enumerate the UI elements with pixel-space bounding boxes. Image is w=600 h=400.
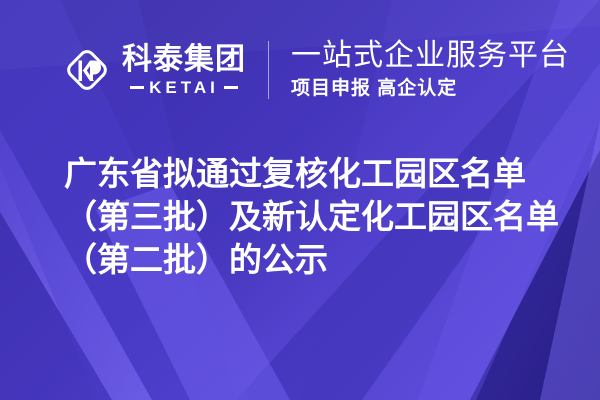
brand-logo[interactable]: 科泰集团 KETAI: [62, 44, 246, 96]
page-title: 广东省拟通过复核化工园区名单（第三批）及新认定化工园区名单（第二批）的公示: [64, 152, 572, 281]
brand-wordmark: 科泰集团 KETAI: [122, 44, 246, 96]
tagline-primary: 一站式企业服务平台: [291, 39, 570, 73]
brand-name-cn: 科泰集团: [122, 44, 246, 76]
brand-tagline: 一站式企业服务平台 项目申报 高企认定: [291, 39, 570, 101]
header-divider: [268, 41, 269, 99]
brand-name-en: KETAI: [149, 79, 219, 96]
announcement-banner: 科泰集团 KETAI 一站式企业服务平台 项目申报 高企认定 广东省拟通过复核化…: [0, 0, 600, 400]
tagline-secondary: 项目申报 高企认定: [291, 77, 570, 101]
banner-header: 科泰集团 KETAI 一站式企业服务平台 项目申报 高企认定: [0, 0, 600, 140]
brand-name-en-row: KETAI: [122, 79, 246, 96]
wordmark-rule-left: [130, 86, 144, 89]
wordmark-rule-right: [224, 86, 238, 89]
ketai-diamond-kp-monogram-icon: [62, 45, 112, 95]
